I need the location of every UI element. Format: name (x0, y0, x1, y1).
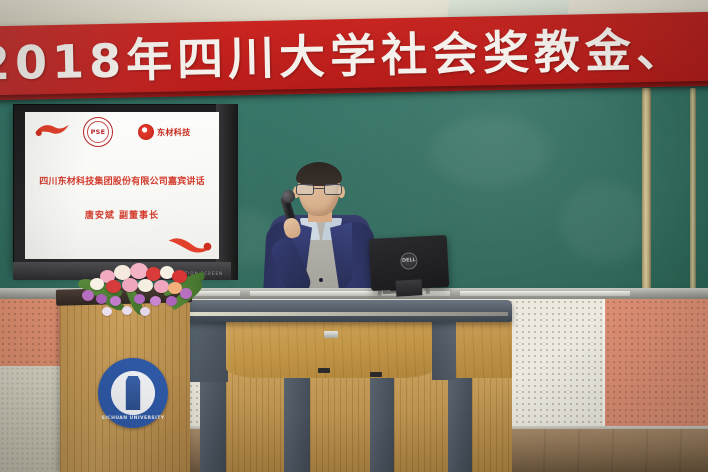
seal-text: PSE (84, 128, 112, 136)
glasses-icon (296, 184, 342, 195)
flower-arrangement (76, 262, 204, 320)
glasses-lens-left (296, 184, 314, 195)
console-desktop (186, 300, 512, 322)
wall-panel-salmon-right (605, 299, 708, 429)
glasses-lens-right (324, 184, 342, 195)
glasses-bridge (314, 188, 324, 189)
company-logo-mark-icon (138, 124, 154, 140)
pse-seal-logo: PSE (83, 117, 113, 147)
console-latch[interactable] (324, 331, 338, 338)
dell-logo-icon: DELL (400, 252, 418, 270)
emblem-tower-icon (118, 376, 148, 410)
projection-screen-frame-right (216, 104, 238, 280)
console-leg-grey (370, 368, 394, 472)
university-emblem: SICHUAN UNIVERSITY (98, 358, 168, 428)
wall-panel-edge (603, 299, 605, 429)
monitor-stand (396, 279, 423, 296)
speaker-jacket-button (319, 278, 323, 282)
ribbon-decoration-icon (34, 121, 70, 139)
console-leg-wood (226, 368, 284, 472)
console-vent-slot (318, 368, 330, 373)
slide-speaker-line: 唐安斌 副董事长 (25, 208, 219, 221)
lecture-hall-photo: 2018年四川大学社会奖教金、 PSE 东材科技 四川东材科技集团股份有限公司嘉… (0, 0, 708, 472)
console-side-left (186, 316, 228, 382)
console-desktop-trim (190, 312, 508, 316)
console-front-panel (226, 316, 434, 378)
company-logo-text: 东材科技 (157, 127, 191, 138)
chalkboard-divider (642, 88, 651, 293)
console-leg-wood (394, 368, 448, 472)
console-leg-grey (284, 368, 310, 472)
slide-title-line: 四川东材科技集团股份有限公司嘉宾讲话 (25, 174, 219, 187)
console-leg-grey (200, 368, 226, 472)
speaker-hair (296, 162, 342, 186)
dell-logo-text: DELL (401, 258, 416, 265)
presentation-slide: PSE 东材科技 四川东材科技集团股份有限公司嘉宾讲话 唐安斌 副董事长 (25, 112, 219, 259)
company-logo: 东材科技 (138, 122, 208, 142)
console-vent-slot (370, 372, 382, 377)
chalkboard-divider-secondary (690, 88, 696, 293)
banner-title: 2018年四川大学社会奖教金、 (0, 26, 687, 86)
console-leg-wood (472, 368, 512, 472)
console-leg-wood (310, 368, 370, 472)
console-side-right (432, 318, 458, 380)
console-right-wing (456, 318, 512, 378)
ledge-segment (460, 291, 630, 296)
ribbon-decoration-icon-bottom (167, 233, 213, 255)
emblem-label: SICHUAN UNIVERSITY (98, 416, 168, 421)
console-leg-grey (448, 368, 472, 472)
